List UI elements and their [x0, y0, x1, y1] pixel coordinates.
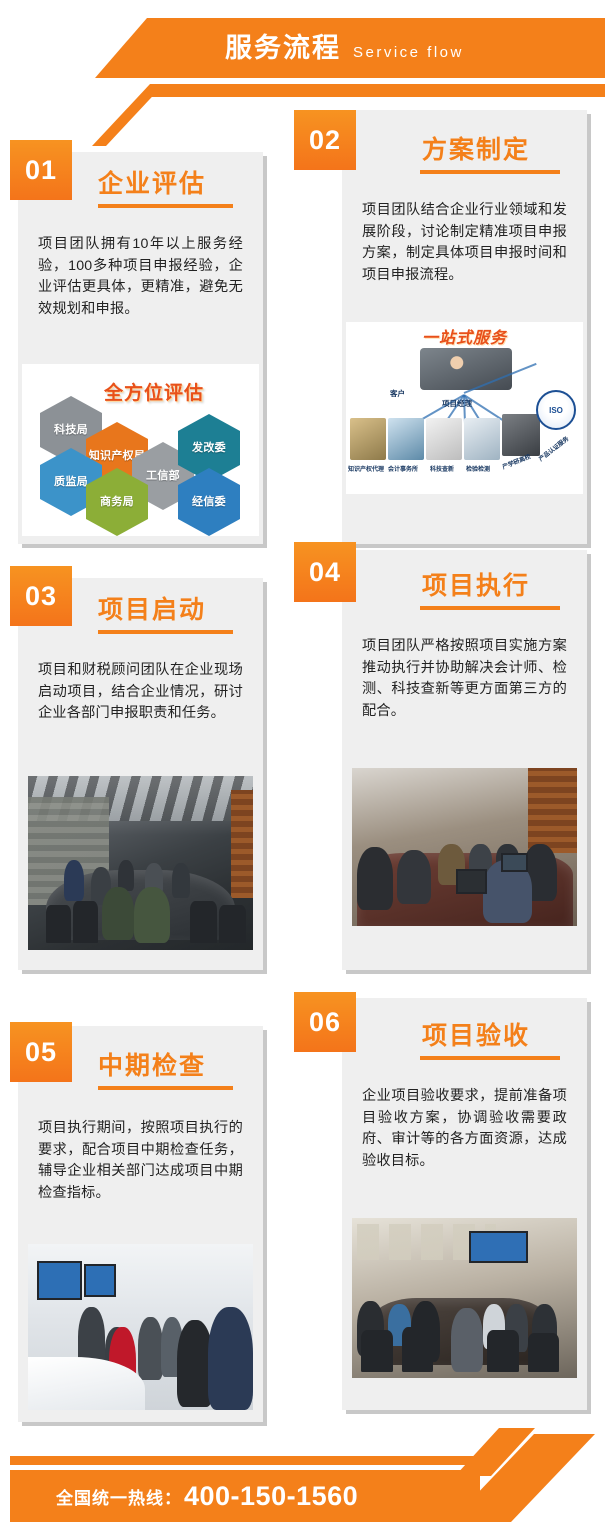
service-node-ip — [350, 418, 386, 460]
step-card-02[interactable]: 02 方案制定 项目团队结合企业行业领域和发展阶段，讨论制定精准项目申报方案，制… — [342, 110, 587, 544]
step-title-rule-05 — [98, 1086, 233, 1090]
step-card-04[interactable]: 04 项目执行 项目团队严格按照项目实施方案推动执行并协助解决会计师、检测、科技… — [342, 550, 587, 970]
hexagon-node-label: 科技局 — [54, 424, 88, 437]
step-title-rule-02 — [420, 170, 560, 174]
step-body-01: 项目团队拥有10年以上服务经验，100多种项目申报经验，企业评估更具体，更精准，… — [38, 234, 243, 320]
step-body-02: 项目团队结合企业行业领域和发展阶段，讨论制定精准项目申报方案，制定具体项目申报时… — [362, 200, 567, 286]
step-title-01: 企业评估 — [98, 164, 206, 200]
service-node-label-testing: 检验检测 — [466, 464, 490, 473]
page-title-en: Service flow — [353, 44, 464, 61]
service-node-label-ip: 知识产权代理 — [348, 464, 384, 473]
page-title: 服务流程 Service flow — [225, 30, 464, 66]
one-stop-service-title: 一站式服务 — [346, 324, 583, 348]
step-title-04: 项目执行 — [422, 566, 530, 602]
step-body-03: 项目和财税顾问团队在企业现场启动项目，结合企业情况，研讨企业各部门申报职责和任务… — [38, 660, 243, 725]
page-title-cn: 服务流程 — [225, 30, 341, 66]
service-node-search — [426, 418, 462, 460]
service-node-label-search: 科技查新 — [430, 464, 454, 473]
photo-site-visit — [28, 1244, 253, 1410]
step-title-rule-06 — [420, 1056, 560, 1060]
step-badge-02: 02 — [294, 110, 356, 170]
step-title-03: 项目启动 — [98, 590, 206, 626]
step-title-rule-01 — [98, 204, 233, 208]
step-badge-06: 06 — [294, 992, 356, 1052]
header-band-sub — [150, 84, 605, 97]
page-footer: 全国统一热线： 400-150-1560 — [0, 1418, 605, 1538]
hotline-label: 全国统一热线： — [56, 1484, 182, 1509]
step-body-04: 项目团队严格按照项目实施方案推动执行并协助解决会计师、检测、科技查新等更方面第三… — [362, 636, 567, 722]
step-card-05[interactable]: 05 中期检查 项目执行期间，按照项目执行的要求，配合项目中期检查任务，辅导企业… — [18, 1026, 263, 1422]
photo-conference-room — [28, 776, 253, 950]
service-node-label-accounting: 会计事务所 — [388, 464, 418, 473]
service-flow-poster: 服务流程 Service flow 01 企业评估 项目团队拥有10年以上服务经… — [0, 0, 605, 1538]
hexagon-node-label: 发改委 — [192, 442, 226, 455]
step-card-03[interactable]: 03 项目启动 项目和财税顾问团队在企业现场启动项目，结合企业情况，研讨企业各部… — [18, 578, 263, 970]
service-node-accounting — [388, 418, 424, 460]
step-badge-05: 05 — [10, 1022, 72, 1082]
page-header: 服务流程 Service flow — [0, 0, 605, 128]
hexagon-node-label: 工信部 — [146, 470, 180, 483]
photo-boardroom — [352, 1218, 577, 1378]
step-card-06[interactable]: 06 项目验收 企业项目验收要求，提前准备项目验收方案，协调验收需要政府、审计等… — [342, 998, 587, 1410]
hotline-number[interactable]: 400-150-1560 — [184, 1481, 358, 1512]
hexagon-diagram-title: 全方位评估 — [104, 378, 204, 405]
step-title-02: 方案制定 — [422, 130, 530, 166]
footer-band-thin — [10, 1456, 480, 1465]
service-node-university — [502, 414, 540, 456]
step-badge-03: 03 — [10, 566, 72, 626]
hexagon-node-label: 商务局 — [100, 496, 134, 509]
service-hub-photo — [420, 348, 512, 390]
service-node-certification-seal: ISO — [536, 390, 576, 430]
step-title-06: 项目验收 — [422, 1016, 530, 1052]
step-body-06: 企业项目验收要求，提前准备项目验收方案，协调验收需要政府、审计等的各方面资源，达… — [362, 1086, 567, 1172]
step-title-rule-04 — [420, 606, 560, 610]
service-label-manager: 项目经理 — [442, 398, 472, 409]
step-badge-01: 01 — [10, 140, 72, 200]
service-label-customer: 客户 — [390, 388, 405, 399]
step-badge-04: 04 — [294, 542, 356, 602]
hexagon-node-label: 经信委 — [192, 496, 226, 509]
hotline: 全国统一热线： 400-150-1560 — [56, 1470, 358, 1522]
step-body-05: 项目执行期间，按照项目执行的要求，配合项目中期检查任务，辅导企业相关部门达成项目… — [38, 1118, 243, 1204]
step-title-rule-03 — [98, 630, 233, 634]
hexagon-node-label: 质监局 — [54, 476, 88, 489]
step-card-01[interactable]: 01 企业评估 项目团队拥有10年以上服务经验，100多种项目申报经验，企业评估… — [18, 152, 263, 544]
photo-meeting-laptops — [352, 768, 577, 926]
service-node-testing — [464, 418, 500, 460]
hexagon-diagram: 全方位评估 科技局 知识产权局 质监局 工信部 商务局 发改委 — [22, 364, 259, 536]
step-title-05: 中期检查 — [98, 1046, 206, 1082]
one-stop-service-diagram: 一站式服务 客户 项目经理 ISO 知识产权代理 — [346, 322, 583, 494]
service-node-label-certification: 产品认证服务 — [536, 434, 570, 463]
